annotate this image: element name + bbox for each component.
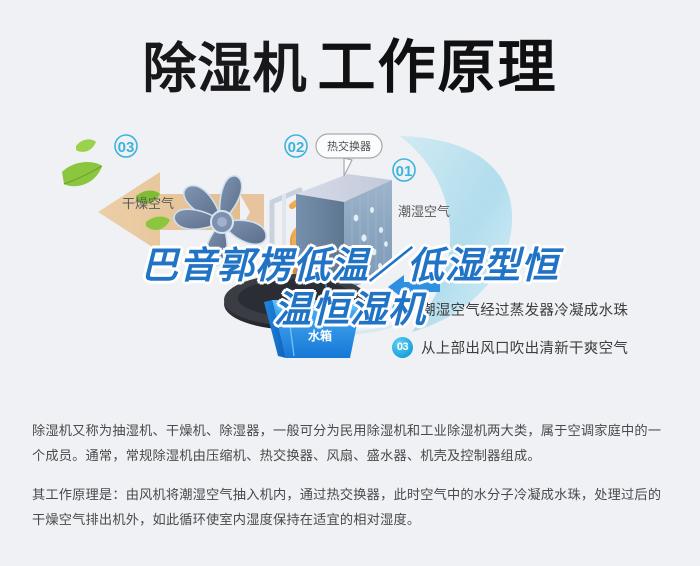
- page-root: 除湿机 工作原理: [0, 0, 700, 566]
- title-part-one: 除湿机: [142, 42, 307, 96]
- badge-02-number: 02: [288, 139, 305, 156]
- step-text-03: 从上部出风口吹出清新干爽空气: [421, 337, 628, 358]
- process-steps-list: 01 潮湿空气经过蒸发器冷凝成水珠 03 从上部出风口吹出清新干爽空气: [392, 290, 692, 366]
- list-item: 01 潮湿空气经过蒸发器冷凝成水珠: [392, 290, 692, 328]
- step-badge-03: 03: [392, 337, 413, 358]
- step-badge-01: 01: [392, 299, 413, 320]
- paragraph-two: 其工作原理是：由风机将潮湿空气抽入机内，通过热交换器，此时空气中的水分子冷凝成水…: [32, 482, 672, 532]
- body-copy: 除湿机又称为抽湿机、干燥机、除湿器，一般可分为民用除湿机和工业除湿机两大类，属于…: [32, 418, 672, 532]
- paragraph-one: 除湿机又称为抽湿机、干燥机、除湿器，一般可分为民用除湿机和工业除湿机两大类，属于…: [32, 418, 672, 468]
- dry-air-label: 干燥空气: [122, 196, 174, 211]
- title-line: 除湿机 工作原理: [142, 39, 557, 97]
- page-title: 除湿机 工作原理: [0, 22, 700, 114]
- heat-exchanger-callout-text: 热交换器: [327, 139, 371, 153]
- step-text-01: 潮湿空气经过蒸发器冷凝成水珠: [421, 299, 628, 320]
- water-tank-label: 水箱: [308, 328, 332, 343]
- badge-03-number: 03: [118, 139, 135, 156]
- badge-01-number: 01: [396, 163, 413, 180]
- list-item: 03 从上部出风口吹出清新干爽空气: [392, 328, 692, 366]
- title-part-two: 工作原理: [317, 39, 557, 97]
- humid-air-label: 潮湿空气: [398, 204, 450, 219]
